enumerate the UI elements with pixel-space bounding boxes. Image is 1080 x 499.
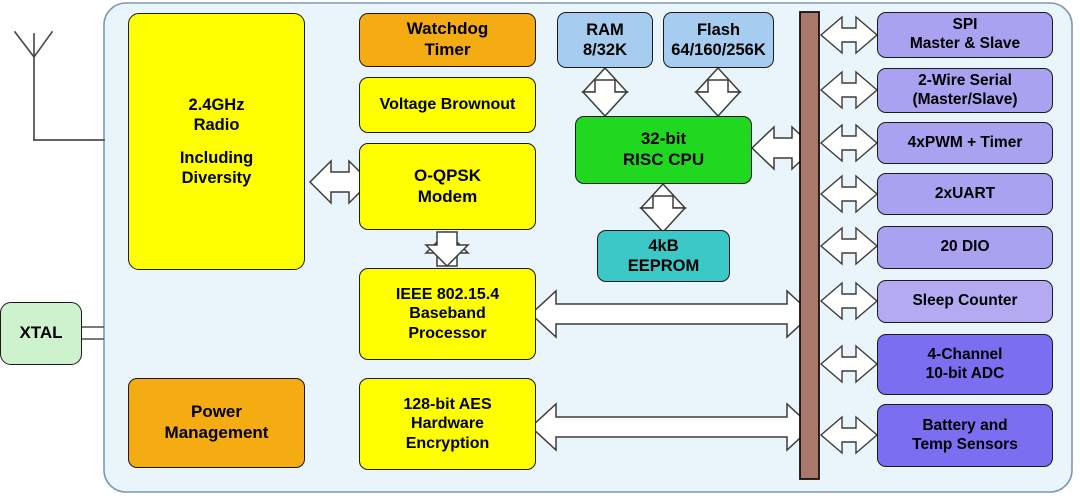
power-management-line-2: Management	[165, 423, 269, 444]
xtal-label: XTAL	[19, 323, 62, 344]
baseband-processor-block[interactable]: IEEE 802.15.4 Baseband Processor	[359, 268, 536, 360]
xtal-block[interactable]: XTAL	[0, 302, 82, 365]
peripheral-pwm-timer-line-1: 4xPWM + Timer	[908, 134, 1023, 153]
baseband-processor-line-1: IEEE 802.15.4	[396, 285, 499, 305]
watchdog-timer-block[interactable]: Watchdog Timer	[359, 13, 536, 67]
ram-line-1: RAM	[586, 20, 624, 40]
peripheral-sleep-counter-block[interactable]: Sleep Counter	[877, 280, 1053, 323]
power-management-line-1: Power	[191, 402, 242, 423]
peripheral-battery-temp-line-2: Temp Sensors	[912, 436, 1018, 455]
peripheral-spi-line-2: Master & Slave	[910, 35, 1020, 54]
radio-line-3: Including	[180, 148, 253, 168]
peripheral-sleep-counter-line-1: Sleep Counter	[912, 292, 1017, 311]
xtal-connection-wires	[82, 327, 104, 339]
risc-cpu-block[interactable]: 32-bit RISC CPU	[575, 116, 752, 184]
o-qpsk-modem-line-1: O-QPSK	[414, 166, 481, 187]
eeprom-line-1: 4kB	[648, 236, 678, 256]
radio-line-1: 2.4GHz	[189, 95, 245, 115]
power-management-block[interactable]: Power Management	[128, 378, 305, 468]
peripheral-two-wire-serial-block[interactable]: 2-Wire Serial (Master/Slave)	[877, 68, 1053, 113]
aes-encryption-line-1: 128-bit AES	[403, 395, 491, 415]
aes-encryption-block[interactable]: 128-bit AES Hardware Encryption	[359, 378, 536, 470]
baseband-processor-line-2: Baseband	[409, 304, 485, 324]
o-qpsk-modem-block[interactable]: O-QPSK Modem	[359, 143, 536, 230]
radio-line-4: Diversity	[182, 168, 252, 188]
peripheral-spi-line-1: SPI	[953, 16, 978, 35]
peripheral-battery-temp-block[interactable]: Battery and Temp Sensors	[877, 404, 1053, 467]
peripheral-uart-block[interactable]: 2xUART	[877, 173, 1053, 215]
peripheral-uart-line-1: 2xUART	[935, 185, 995, 204]
voltage-brownout-line-1: Voltage Brownout	[380, 95, 516, 115]
flash-line-2: 64/160/256K	[671, 40, 766, 60]
radio-line-2: Radio	[194, 115, 240, 135]
watchdog-timer-line-1: Watchdog	[407, 19, 489, 40]
o-qpsk-modem-line-2: Modem	[418, 187, 478, 208]
ram-block[interactable]: RAM 8/32K	[557, 12, 653, 68]
eeprom-block[interactable]: 4kB EEPROM	[597, 230, 730, 282]
peripheral-dio-line-1: 20 DIO	[940, 238, 989, 257]
peripheral-dio-block[interactable]: 20 DIO	[877, 226, 1053, 269]
antenna-icon	[15, 32, 104, 140]
radio-block[interactable]: 2.4GHz Radio Including Diversity	[128, 13, 305, 270]
peripheral-two-wire-serial-line-1: 2-Wire Serial	[918, 72, 1012, 91]
eeprom-line-2: EEPROM	[628, 256, 700, 276]
peripheral-spi-block[interactable]: SPI Master & Slave	[877, 12, 1053, 58]
block-diagram-canvas: XTAL 2.4GHz Radio Including Diversity Wa…	[0, 0, 1080, 499]
aes-encryption-line-3: Encryption	[406, 434, 490, 454]
peripheral-bus-bar	[800, 12, 819, 479]
peripheral-adc-block[interactable]: 4-Channel 10-bit ADC	[877, 334, 1053, 395]
peripheral-battery-temp-line-1: Battery and	[922, 417, 1007, 436]
ram-line-2: 8/32K	[583, 40, 627, 60]
risc-cpu-line-2: RISC CPU	[623, 150, 704, 171]
peripheral-adc-line-2: 10-bit ADC	[926, 365, 1005, 384]
baseband-processor-line-3: Processor	[408, 324, 486, 344]
watchdog-timer-line-2: Timer	[425, 40, 471, 61]
voltage-brownout-block[interactable]: Voltage Brownout	[359, 77, 536, 133]
flash-block[interactable]: Flash 64/160/256K	[663, 12, 774, 68]
risc-cpu-line-1: 32-bit	[641, 129, 686, 150]
peripheral-adc-line-1: 4-Channel	[928, 346, 1003, 365]
peripheral-pwm-timer-block[interactable]: 4xPWM + Timer	[877, 122, 1053, 164]
flash-line-1: Flash	[697, 20, 740, 40]
peripheral-two-wire-serial-line-2: (Master/Slave)	[912, 91, 1017, 110]
aes-encryption-line-2: Hardware	[411, 414, 484, 434]
